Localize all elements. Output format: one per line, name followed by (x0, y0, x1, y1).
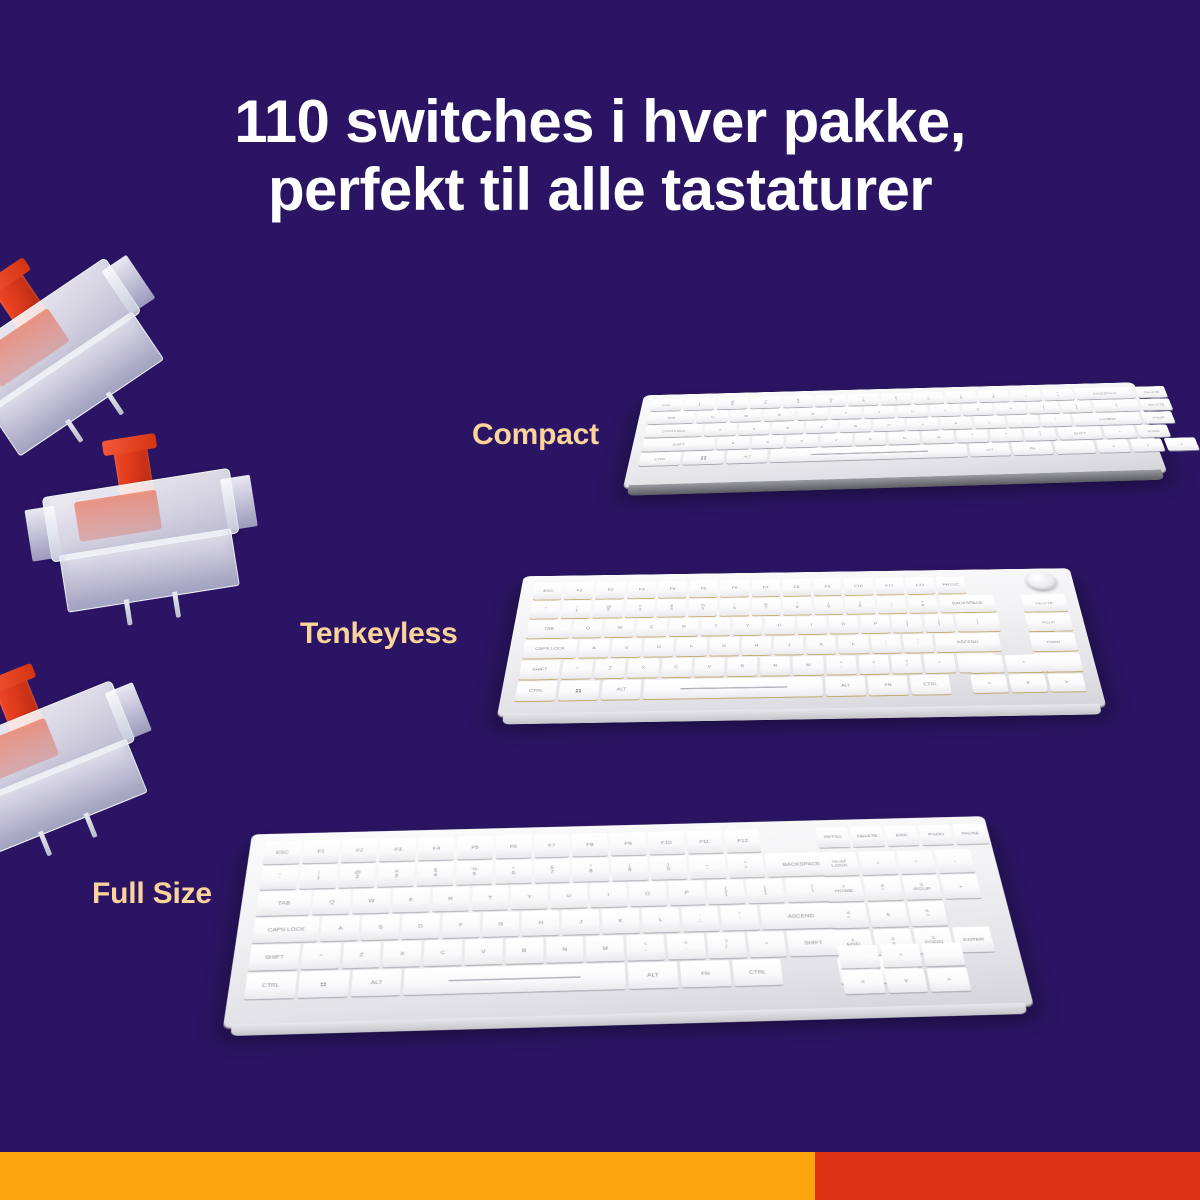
key-blank[interactable] (1043, 654, 1082, 672)
key-d[interactable]: D (643, 638, 674, 657)
key-win[interactable] (682, 451, 724, 465)
keyboard-row: 4<56> (828, 900, 996, 929)
key-legend: $4 (797, 399, 799, 404)
key-blank[interactable]: - (934, 849, 975, 873)
key-a[interactable]: A (704, 423, 737, 436)
key-blank[interactable]: "' (1039, 414, 1072, 427)
key-j[interactable]: J (774, 636, 804, 655)
key-f4[interactable]: F4 (418, 837, 455, 861)
key-blank[interactable]: {[ (707, 879, 746, 904)
key-6[interactable]: ^6 (720, 598, 749, 616)
key-shift[interactable]: SHIFT (248, 944, 300, 971)
key-blank[interactable] (1054, 440, 1097, 454)
key-legend: 4< (846, 911, 851, 920)
key-blank[interactable] (967, 655, 1005, 673)
key-win[interactable] (297, 970, 349, 998)
key-legend: #3 (394, 870, 398, 879)
key-blank[interactable]: > (927, 967, 972, 991)
key-shift[interactable]: SHIFT (1057, 426, 1104, 440)
key-alt[interactable]: ALT (628, 961, 679, 988)
key-legend: "' (917, 640, 920, 647)
keyboard-full-size-nav-top: PRTSCDELETEENDPGDNPAUSE (815, 824, 988, 848)
key-alt[interactable]: ALT (600, 680, 641, 700)
key-m[interactable]: M (922, 430, 955, 443)
key-blank[interactable]: _- (1010, 389, 1042, 401)
key-u[interactable]: U (551, 883, 588, 908)
key-legend: 9PGUP (912, 883, 931, 892)
key-legend: 8^ (880, 884, 885, 893)
key-legend: #3 (764, 400, 767, 405)
key-legend: )0 (858, 602, 861, 609)
key-h[interactable]: H (522, 910, 559, 936)
key-blank[interactable]: * (896, 850, 937, 874)
key-s[interactable]: S (738, 422, 770, 435)
key-alt[interactable]: ALT (826, 676, 867, 696)
key-blank[interactable]: > (1047, 673, 1087, 691)
key-f3[interactable]: F3 (627, 581, 657, 598)
page-title: 110 switches i hver pakke, perfekt til a… (0, 88, 1200, 224)
key-blank[interactable]: ^ (924, 654, 957, 673)
key-f9[interactable]: F9 (813, 579, 842, 596)
key-1[interactable]: !1 (299, 864, 338, 888)
key-o[interactable]: O (829, 616, 859, 634)
key-f11[interactable]: F11 (686, 830, 724, 854)
key-blank[interactable]: < (841, 970, 885, 994)
key-f10[interactable]: F10 (648, 831, 685, 855)
key-legend: ?/ (724, 940, 729, 950)
key-y[interactable]: Y (733, 617, 762, 635)
key-delete[interactable]: DELETE (1021, 594, 1068, 612)
key-v[interactable]: V (820, 433, 851, 446)
key-f8[interactable]: F8 (782, 579, 811, 596)
key-blank[interactable]: }] (1060, 400, 1093, 412)
key-f7[interactable]: F7 (752, 579, 780, 596)
spacebar-marker (680, 686, 787, 689)
key-t[interactable]: T (831, 407, 861, 420)
key-shift[interactable]: SHIFT (642, 437, 716, 452)
key-blank[interactable]: ^ (747, 931, 788, 957)
key-legend: (9 (827, 602, 830, 609)
key-w[interactable]: W (730, 409, 762, 422)
key-ctrl[interactable]: CTRL (244, 972, 297, 1000)
key-blank[interactable]: ^ (1103, 425, 1138, 438)
key-legend: ~` (277, 873, 282, 882)
key-r[interactable]: R (669, 618, 699, 636)
keyboard-full-size-arrows: ^<v> (837, 943, 969, 995)
key-c[interactable]: C (661, 658, 692, 677)
key-8[interactable]: *8 (573, 858, 610, 882)
key-o[interactable]: O (962, 403, 994, 415)
key-p[interactable]: P (995, 402, 1027, 414)
key-5[interactable]: 5 (868, 902, 909, 927)
key-esc[interactable]: ESC (263, 841, 302, 865)
key-f6[interactable]: F6 (720, 580, 748, 597)
key-k[interactable]: K (602, 908, 640, 934)
key-legend: {[ (906, 620, 909, 627)
key-f1[interactable]: F1 (302, 840, 340, 864)
key-v[interactable]: V (694, 657, 725, 676)
volume-knob[interactable] (1025, 572, 1058, 590)
key-f5[interactable]: F5 (457, 836, 493, 860)
key-f7[interactable]: F7 (534, 834, 570, 858)
windows-icon (701, 456, 707, 459)
key-f9[interactable]: F9 (610, 832, 647, 856)
keyboard-full-size: ESCF1F2F3F4F5F6F7F8F9F10F11F12~`!1@2#3$4… (223, 816, 1034, 1028)
key-h[interactable]: H (742, 637, 772, 656)
key-7[interactable]: &7 (534, 859, 570, 883)
key-blank[interactable]: ?/ (891, 654, 923, 673)
key-tab[interactable]: TAB (526, 620, 572, 638)
key-blank[interactable]: <, (826, 655, 857, 674)
key-y[interactable]: Y (864, 406, 895, 419)
key-shift[interactable]: SHIFT (518, 660, 560, 680)
key-9[interactable]: (9 (814, 597, 844, 615)
key-blank[interactable]: |\ (955, 613, 1001, 631)
key-blank[interactable]: >. (990, 428, 1023, 441)
key-blank[interactable]: >. (858, 655, 890, 674)
key-legend: !1 (316, 872, 320, 881)
keyboard-tenkeyless-base (502, 704, 1103, 725)
key-blank[interactable]: ~` (529, 601, 561, 619)
key-blank[interactable]: += (727, 854, 766, 878)
key-legend: >. (872, 661, 876, 668)
key-5[interactable]: %5 (816, 394, 846, 406)
key-2[interactable]: @2 (717, 397, 748, 409)
key-legend: :; (885, 640, 887, 647)
key-b[interactable]: B (505, 937, 543, 963)
key-f6[interactable]: F6 (495, 835, 531, 859)
key-legend: >. (1005, 432, 1009, 438)
key-p[interactable]: P (860, 615, 891, 633)
key-r[interactable]: R (432, 886, 469, 911)
key-w[interactable]: W (352, 889, 391, 914)
key-f2[interactable]: F2 (341, 839, 379, 863)
key-f[interactable]: F (442, 912, 480, 938)
key-legend: @2 (354, 871, 361, 880)
key-blank[interactable]: > (1164, 437, 1200, 451)
key-blank[interactable]: ^ (879, 944, 923, 968)
key-alt[interactable]: ALT (969, 443, 1011, 457)
key-s[interactable]: S (611, 639, 642, 658)
key-blank[interactable]: += (1042, 388, 1074, 400)
key-v[interactable]: v (1130, 438, 1166, 452)
keyboard-row: NUMLOCK/*- (820, 849, 983, 876)
key-k[interactable]: K (940, 417, 972, 430)
key-blank[interactable]: < (970, 674, 1009, 693)
key-9pgup[interactable]: 9PGUP (901, 875, 942, 900)
key-legend: (9 (628, 864, 632, 873)
spacebar-marker (810, 451, 928, 455)
key-blank[interactable]: {[ (892, 615, 923, 633)
key-fn[interactable]: FN (868, 675, 909, 695)
key-1[interactable]: !1 (561, 601, 592, 619)
key-blank[interactable]: "' (720, 905, 760, 931)
keyboard-row: PGUP (1025, 613, 1074, 631)
key-v[interactable]: V (464, 939, 502, 965)
key-pgup[interactable]: PGUP (1141, 411, 1176, 424)
key-blank[interactable]: :; (1006, 415, 1039, 428)
key-l[interactable]: L (973, 416, 1006, 429)
key-f5[interactable]: F5 (689, 580, 718, 597)
key-legend: *8 (589, 865, 593, 874)
key-backspace[interactable]: BACKSPACE (939, 595, 997, 613)
key-n[interactable]: N (760, 656, 790, 675)
key-q[interactable]: Q (312, 890, 351, 915)
keyboard-tenkeyless: ESCF1F2F3F4F5F6F7F8F9F10F11F12PRTSC~`!1@… (497, 568, 1106, 716)
key-blank[interactable]: <, (626, 934, 665, 960)
key-alt[interactable]: ALT (350, 969, 402, 997)
switch-pin-left (123, 599, 132, 625)
key-5[interactable]: %5 (688, 599, 717, 617)
key-legend: }] (1075, 404, 1078, 409)
key-l[interactable]: L (641, 907, 680, 933)
key-blank[interactable]: >. (666, 933, 706, 959)
key-blank[interactable]: / (858, 851, 898, 875)
key-blank[interactable]: |\ (1092, 399, 1141, 412)
key-f12[interactable]: F12 (905, 577, 935, 594)
key-x[interactable]: X (751, 435, 783, 448)
key-7[interactable]: &7 (752, 598, 781, 616)
key-j[interactable]: J (907, 417, 939, 430)
key-legend: ^6 (862, 397, 864, 402)
key-7home[interactable]: 7HOME (824, 877, 864, 902)
key-numlock[interactable]: NUMLOCK (820, 852, 860, 876)
key-2[interactable]: @2 (338, 863, 376, 887)
key-legend: @2 (605, 606, 611, 613)
key-ctrl[interactable]: CTRL (638, 452, 681, 466)
key-blank[interactable]: ~` (259, 865, 298, 889)
key-c[interactable]: C (786, 434, 818, 447)
key-blank[interactable]: {[ (1027, 401, 1060, 413)
key-f[interactable]: F (676, 638, 706, 657)
key-blank[interactable]: ^ (561, 660, 594, 679)
key-q[interactable]: Q (697, 410, 729, 423)
key-a[interactable]: A (321, 915, 361, 941)
key-backspace[interactable]: BACKSPACE (1074, 387, 1136, 400)
key-8[interactable]: 8^ (863, 876, 904, 901)
key-c[interactable]: C (424, 940, 463, 967)
key-delete[interactable]: DELETE (1139, 398, 1173, 410)
key-8[interactable]: *8 (913, 392, 944, 404)
key-alt[interactable]: ALT (726, 449, 768, 463)
key-space[interactable] (404, 963, 626, 995)
key-p[interactable]: P (668, 880, 706, 905)
key-d[interactable]: D (401, 913, 439, 939)
key-r[interactable]: R (797, 408, 828, 421)
key-g[interactable]: G (840, 419, 871, 432)
key-0[interactable]: )0 (978, 390, 1010, 402)
key-n[interactable]: N (546, 936, 584, 962)
key-m[interactable]: M (793, 656, 824, 675)
key-tab[interactable]: TAB (256, 891, 312, 917)
key-g[interactable]: G (709, 637, 739, 656)
key-fn[interactable]: FN (680, 960, 732, 987)
key-e[interactable]: E (392, 888, 430, 913)
key-u[interactable]: U (765, 617, 794, 635)
key-tab[interactable]: TAB (647, 411, 695, 424)
key-ctrl[interactable]: CTRL (732, 959, 784, 986)
key-6[interactable]: ^6 (848, 394, 878, 406)
key-prtsc[interactable]: PRTSC (815, 827, 850, 848)
key-h[interactable]: H (873, 418, 904, 431)
key-b[interactable]: B (855, 432, 887, 445)
key-end[interactable]: END (884, 825, 920, 846)
key-i[interactable]: I (590, 882, 628, 907)
key-j[interactable]: J (562, 909, 600, 935)
switch-pin-right (83, 812, 97, 838)
key-blank[interactable]: ?/ (1023, 428, 1057, 441)
key-ascend[interactable]: ASCEND (1072, 412, 1142, 426)
key-5[interactable]: %5 (456, 861, 493, 885)
key-pgdn[interactable]: PGDN (1136, 424, 1171, 437)
key-g[interactable]: G (482, 911, 519, 937)
key-9[interactable]: (9 (945, 391, 976, 403)
key-4[interactable]: 4< (828, 903, 869, 928)
key-ctrl[interactable]: CTRL (910, 675, 952, 695)
key-f8[interactable]: F8 (572, 833, 608, 857)
key-6[interactable]: ^6 (495, 860, 531, 884)
keyboard-tenkeyless-arrows: ^<v> (967, 654, 1090, 693)
key-legend: $4 (670, 605, 673, 612)
key-prtsc[interactable]: PRTSC (936, 577, 967, 594)
key-0[interactable]: )0 (650, 856, 688, 880)
key-0[interactable]: )0 (845, 596, 875, 614)
key-1[interactable]: !1 (683, 398, 715, 410)
key-f4[interactable]: F4 (658, 581, 687, 598)
key-4[interactable]: $4 (783, 395, 813, 407)
key-w[interactable]: W (604, 619, 635, 637)
key-blank[interactable]: + (940, 874, 982, 899)
key-t[interactable]: T (472, 885, 509, 910)
key-legend: #3 (638, 605, 641, 612)
key-f[interactable]: F (806, 420, 837, 433)
key-i[interactable]: I (929, 404, 961, 417)
key-y[interactable]: Y (511, 884, 548, 909)
key-blank[interactable]: :; (870, 635, 901, 654)
key-blank[interactable] (921, 943, 965, 967)
key-blank[interactable]: }] (746, 878, 785, 903)
key-i[interactable]: I (797, 616, 827, 634)
key-a[interactable]: A (578, 639, 610, 658)
key-e[interactable]: E (637, 619, 667, 637)
key-u[interactable]: U (897, 405, 928, 418)
key-z[interactable]: Z (342, 942, 382, 969)
key-6[interactable]: 6> (907, 901, 949, 926)
key-v[interactable]: v (884, 969, 928, 993)
key-legend: )0 (992, 394, 995, 399)
key-blank[interactable]: "' (903, 634, 935, 653)
key-7[interactable]: &7 (881, 393, 912, 405)
key-win[interactable] (558, 680, 600, 700)
key-blank[interactable]: ?/ (707, 932, 747, 958)
switch-pin-right (172, 591, 181, 617)
key-3[interactable]: #3 (750, 396, 781, 408)
key-f2[interactable]: F2 (595, 582, 625, 599)
key-d[interactable]: D (772, 421, 803, 434)
keyboard-compact: ESC!1@2#3$4%5^6&7*8(9)0_-+=BACKSPACEDELE… (623, 382, 1167, 488)
key-2[interactable]: @2 (593, 600, 624, 618)
keyboard-row: ^ (837, 943, 964, 969)
key-pause[interactable]: PAUSE (952, 824, 989, 845)
key-f1[interactable]: F1 (564, 582, 595, 599)
key-pgup[interactable]: PGUP (1025, 613, 1073, 631)
key-blank[interactable]: _- (876, 596, 906, 613)
key-space[interactable] (643, 677, 823, 699)
key-v[interactable]: v (1009, 674, 1048, 693)
key-f10[interactable]: F10 (844, 578, 873, 595)
key-f12[interactable]: F12 (724, 829, 762, 852)
key-blank[interactable]: < (1096, 439, 1131, 453)
key-ascend[interactable]: ASCEND (935, 633, 1002, 652)
key-blank[interactable]: += (907, 595, 938, 612)
key-legend: &7 (764, 603, 767, 610)
key-blank[interactable]: <, (956, 429, 989, 442)
key-blank[interactable]: :; (681, 906, 720, 932)
key-blank[interactable]: ^ (300, 943, 340, 970)
key-t[interactable]: T (701, 618, 731, 636)
key-x[interactable]: X (627, 659, 659, 678)
key-legend: $4 (433, 869, 437, 878)
key-blank[interactable]: ^ (1005, 654, 1044, 672)
key-pgdn[interactable]: PGDN (1029, 632, 1078, 651)
key-capslock[interactable]: CAPS LOCK (522, 640, 577, 659)
key-esc[interactable]: ESC (533, 583, 564, 600)
key-delete[interactable]: DELETE (1135, 386, 1169, 398)
key-9[interactable]: (9 (611, 857, 648, 881)
key-legend: ^6 (511, 867, 515, 876)
key-k[interactable]: K (806, 636, 836, 655)
key-legend: ?/ (1038, 431, 1042, 437)
key-4[interactable]: $4 (417, 862, 454, 886)
keyboard-row: <v> (841, 967, 969, 994)
key-capslock[interactable]: CAPS LOCK (252, 916, 320, 943)
key-f11[interactable]: F11 (874, 578, 904, 595)
key-e[interactable]: E (764, 408, 795, 421)
key-3[interactable]: #3 (377, 862, 415, 886)
keyboard-full-size-keys: ESCF1F2F3F4F5F6F7F8F9F10F11F12~`!1@2#3$4… (244, 828, 827, 999)
key-8[interactable]: *8 (783, 597, 812, 615)
key-z[interactable]: Z (717, 436, 750, 449)
key-blank[interactable]: }] (923, 614, 954, 632)
key-x[interactable]: X (383, 941, 422, 968)
key-esc[interactable]: ESC (650, 399, 682, 411)
key-3[interactable]: #3 (625, 600, 655, 618)
key-delete[interactable]: DELETE (850, 826, 885, 847)
key-pgdn[interactable]: PGDN (918, 824, 954, 845)
key-4[interactable]: $4 (657, 599, 687, 617)
key-legend: &7 (550, 866, 554, 875)
key-ctrl[interactable]: CTRL (515, 681, 558, 701)
key-o[interactable]: O (629, 881, 667, 906)
key-b[interactable]: B (727, 657, 757, 676)
keyboard-row: PGDN (1029, 632, 1079, 651)
key-n[interactable]: N (888, 431, 920, 444)
key-l[interactable]: L (838, 635, 869, 654)
key-fn[interactable]: FN (1011, 441, 1054, 455)
key-m[interactable]: M (586, 935, 625, 961)
key-f3[interactable]: F3 (379, 838, 416, 862)
key-z[interactable]: Z (594, 659, 626, 678)
key-blank[interactable]: _- (688, 855, 726, 879)
key-s[interactable]: S (361, 914, 400, 940)
key-legend: += (743, 861, 748, 870)
key-q[interactable]: Q (572, 620, 603, 638)
keyboard-row: ^ (967, 654, 1085, 673)
bottom-bar-orange-segment (0, 1152, 815, 1200)
key-blank[interactable] (837, 945, 880, 969)
key-capslock[interactable]: CAPS LOCK (645, 424, 703, 438)
bottom-bar-red-segment (815, 1152, 1200, 1200)
